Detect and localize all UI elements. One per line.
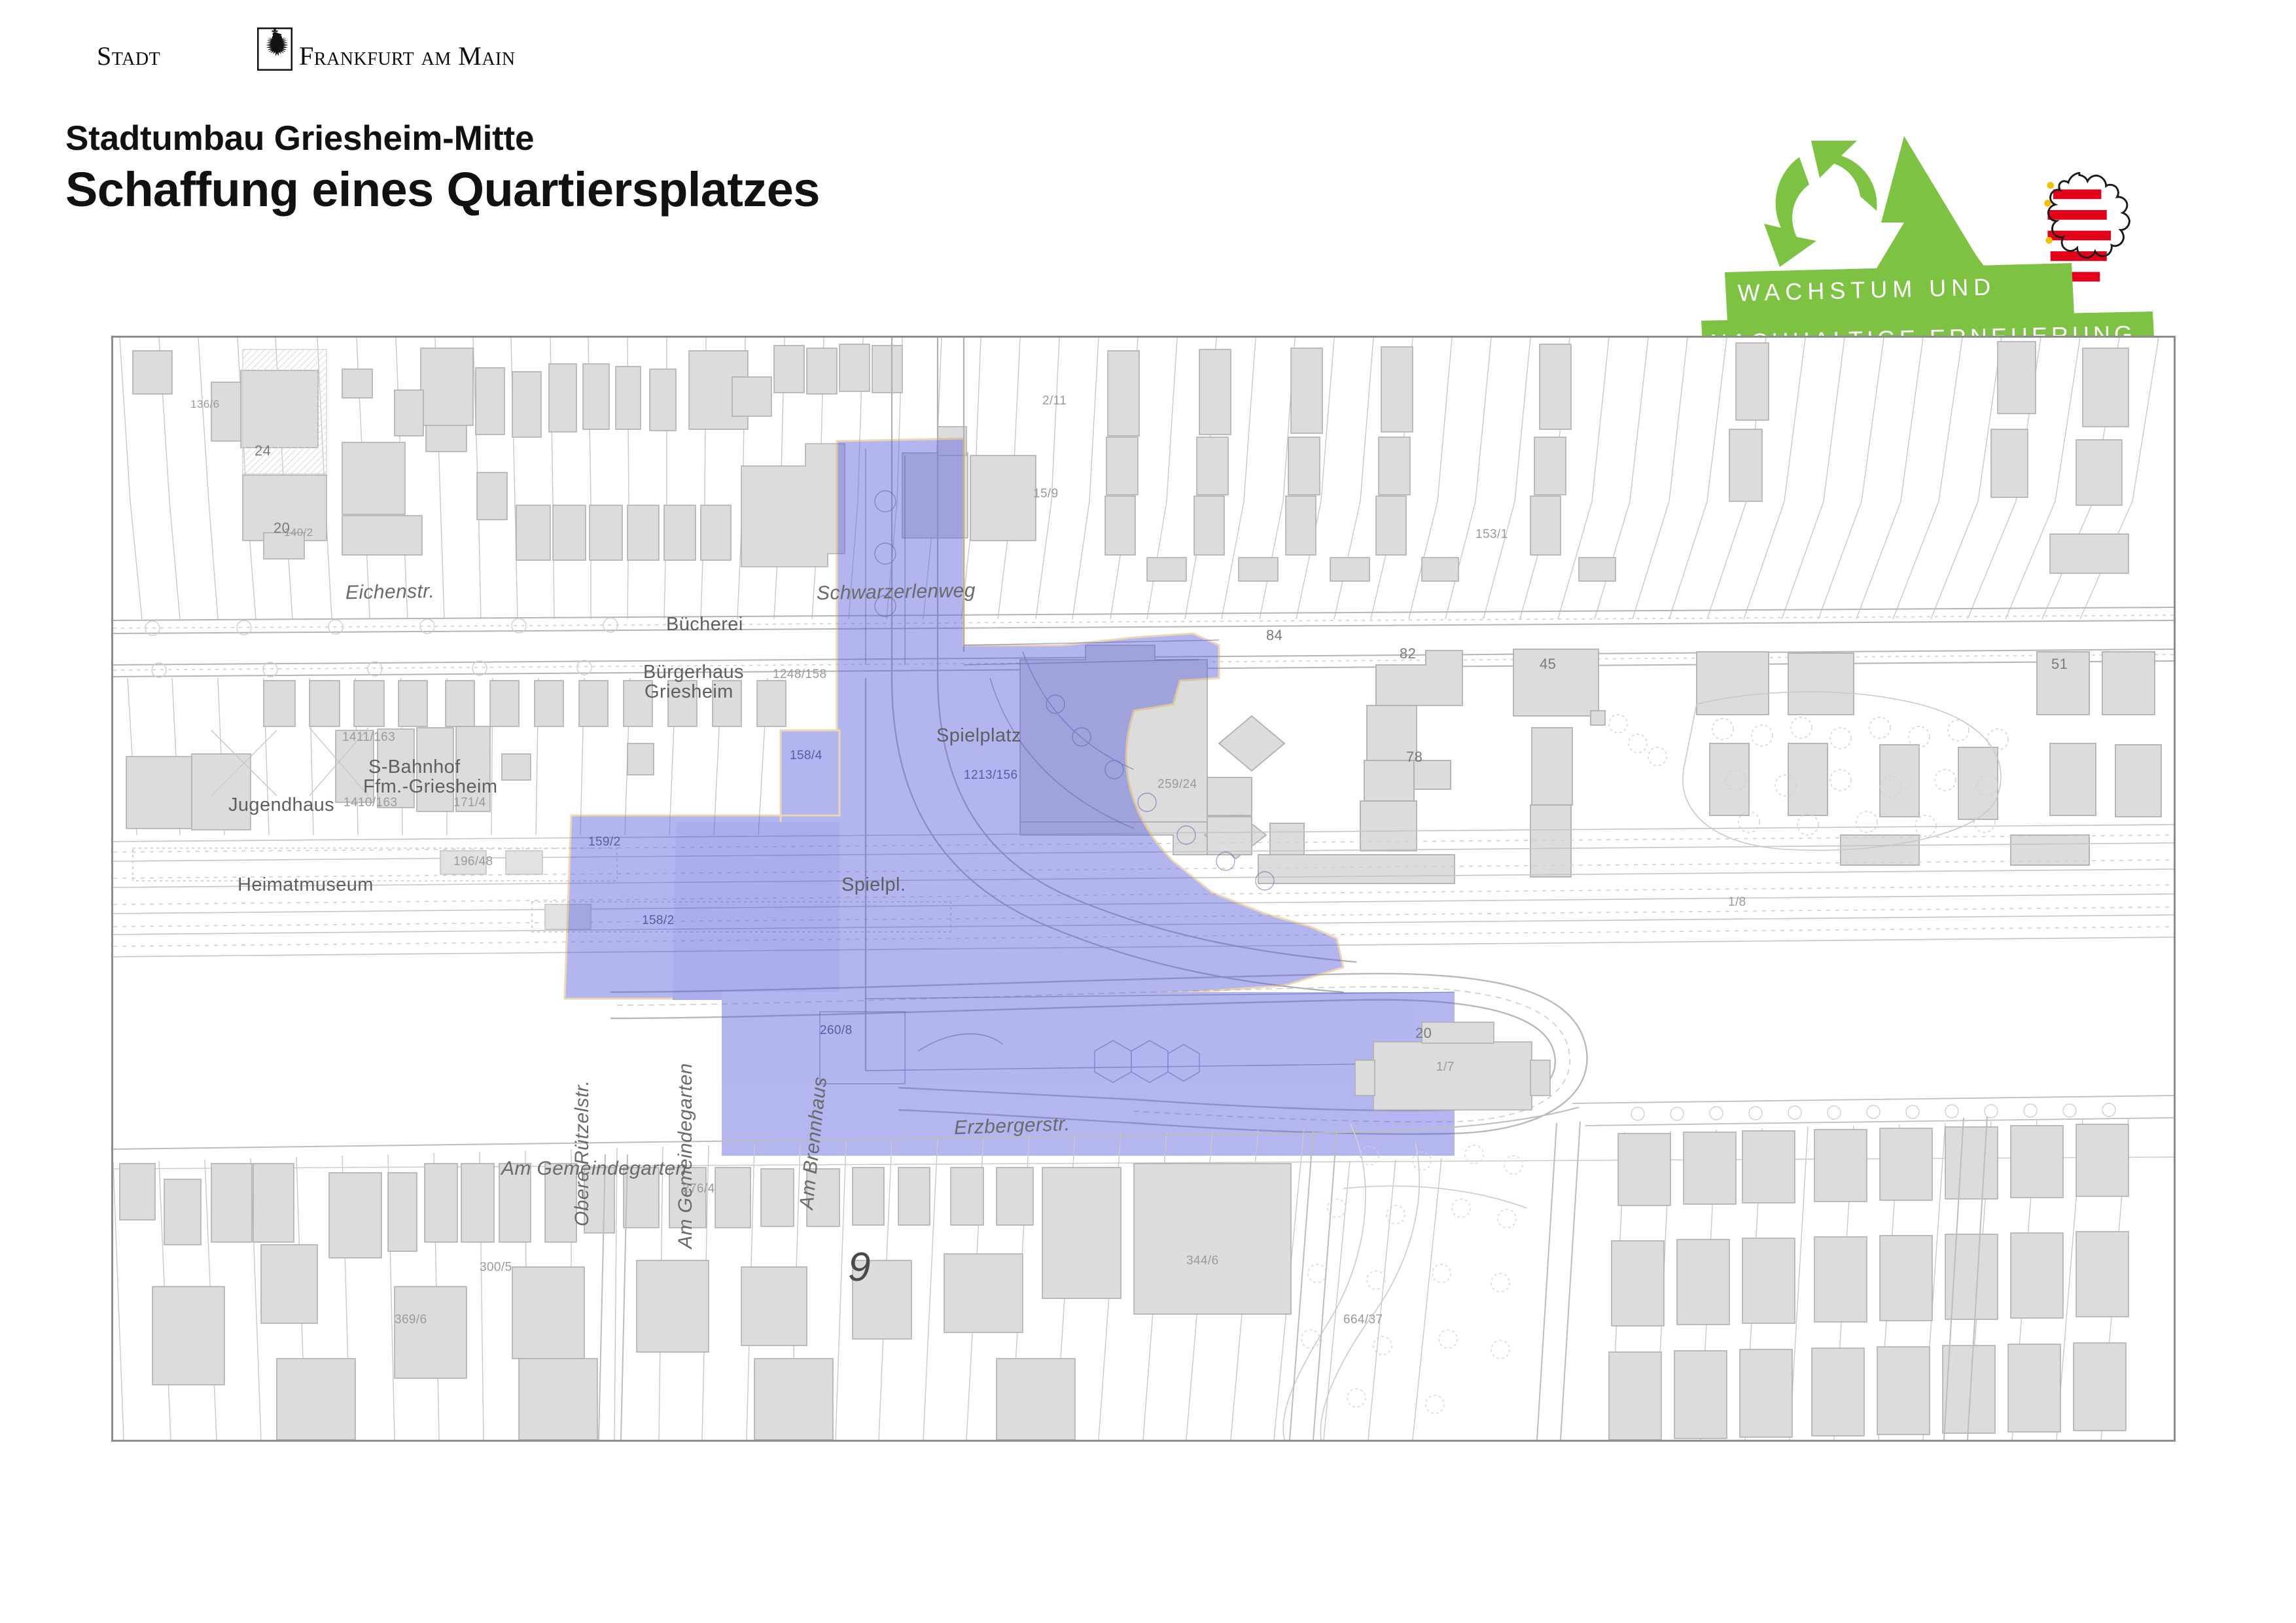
parcel-number: 259/24 — [1157, 777, 1197, 792]
parcel-number: 1/8 — [1728, 895, 1746, 910]
parcel-number: 664/37 — [1343, 1313, 1383, 1327]
frankfurt-eagle-icon — [257, 27, 292, 71]
parcel-number: 2/11 — [1042, 394, 1067, 408]
parcel-number: 171/4 — [453, 796, 486, 810]
recycle-arrow-icon — [1764, 141, 1877, 267]
parcel-number: 153/1 — [1475, 527, 1508, 542]
parcel-number: 136/6 — [190, 398, 220, 411]
title-block: Stadtumbau Griesheim-Mitte Schaffung ein… — [65, 119, 820, 217]
house-number: 51 — [2051, 656, 2068, 673]
city-logo-word-left: Stadt — [97, 43, 160, 72]
house-number: 20 — [1415, 1025, 1432, 1042]
house-number: 82 — [1400, 645, 1416, 662]
map-street-schwarzerlenweg: Schwarzerlenweg — [817, 580, 976, 605]
map-street-eichenstr: Eichenstr. — [345, 580, 435, 604]
house-number: 78 — [1406, 749, 1422, 766]
map-poi-jugendhaus: Jugendhaus — [228, 794, 334, 816]
city-logo-word-right: Frankfurt am Main — [299, 43, 515, 72]
map-street-am-gemeindegarten: Am Gemeindegarten — [501, 1158, 687, 1180]
map-poi-griesheim: Griesheim — [645, 681, 733, 703]
map-canvas[interactable]: Eichenstr. Schwarzerlenweg Erzbergerstr.… — [113, 338, 2174, 1440]
parcel-number: 1213/156 — [964, 768, 1017, 783]
parcel-number: 1248/158 — [773, 668, 826, 682]
map-poi-buergerhaus: Bürgerhaus — [643, 662, 744, 683]
parcel-number: 1/7 — [1436, 1060, 1455, 1075]
city-logo: Stadt Frankfurt am Main — [97, 12, 516, 72]
map-street-erzbergerstr: Erzbergerstr. — [953, 1113, 1070, 1139]
parcel-number: 260/8 — [820, 1024, 853, 1038]
map-street-obere-ruetzelstr: Obere Rützelstr. — [571, 1080, 593, 1226]
map-poi-s-bahnhof: S-Bahnhof — [368, 757, 461, 778]
map-poi-spielplatz: Spielplatz — [936, 725, 1021, 747]
parcel-number: 159/2 — [588, 835, 621, 849]
parcel-number: 344/6 — [1186, 1254, 1219, 1268]
project-subtitle: Stadtumbau Griesheim-Mitte — [65, 119, 820, 158]
parcel-number: 1410/163 — [344, 796, 397, 810]
parcel-number: 196/48 — [453, 855, 493, 869]
parcel-number: 1411/163 — [342, 730, 395, 745]
map-street-am-gemeindegarten-2: Am Gemeindegarten — [675, 1063, 697, 1249]
map-poi-ffm-griesheim: Ffm.-Griesheim — [363, 776, 497, 798]
map-poi-buecherei: Bücherei — [666, 614, 743, 635]
page-title: Schaffung eines Quartiersplatzes — [65, 163, 820, 217]
parcel-number: 158/2 — [642, 914, 675, 928]
map-vector-layer — [113, 338, 2174, 1440]
poster-page: Stadt Frankfurt am Main Stadtumbau Gries… — [0, 0, 2296, 1623]
house-number: 45 — [1540, 656, 1556, 673]
map-poi-heimatmuseum: Heimatmuseum — [238, 874, 374, 896]
parcel-number: 276/4 — [682, 1182, 715, 1196]
parcel-number: 158/4 — [790, 749, 822, 763]
map-big-number: 9 — [848, 1244, 871, 1291]
footer: Bundesministerium für Wohnen, Stadtentwi… — [0, 1466, 2296, 1623]
parcel-number: 15/9 — [1033, 487, 1059, 501]
house-number: 84 — [1266, 627, 1282, 644]
house-number: 24 — [255, 442, 271, 459]
parcel-number: 369/6 — [395, 1313, 427, 1327]
map-poi-spielpl: Spielpl. — [841, 874, 906, 896]
parcel-number: 300/5 — [480, 1260, 512, 1275]
parcel-number: 140/2 — [284, 526, 313, 539]
cadastral-map[interactable]: Eichenstr. Schwarzerlenweg Erzbergerstr.… — [111, 336, 2176, 1442]
